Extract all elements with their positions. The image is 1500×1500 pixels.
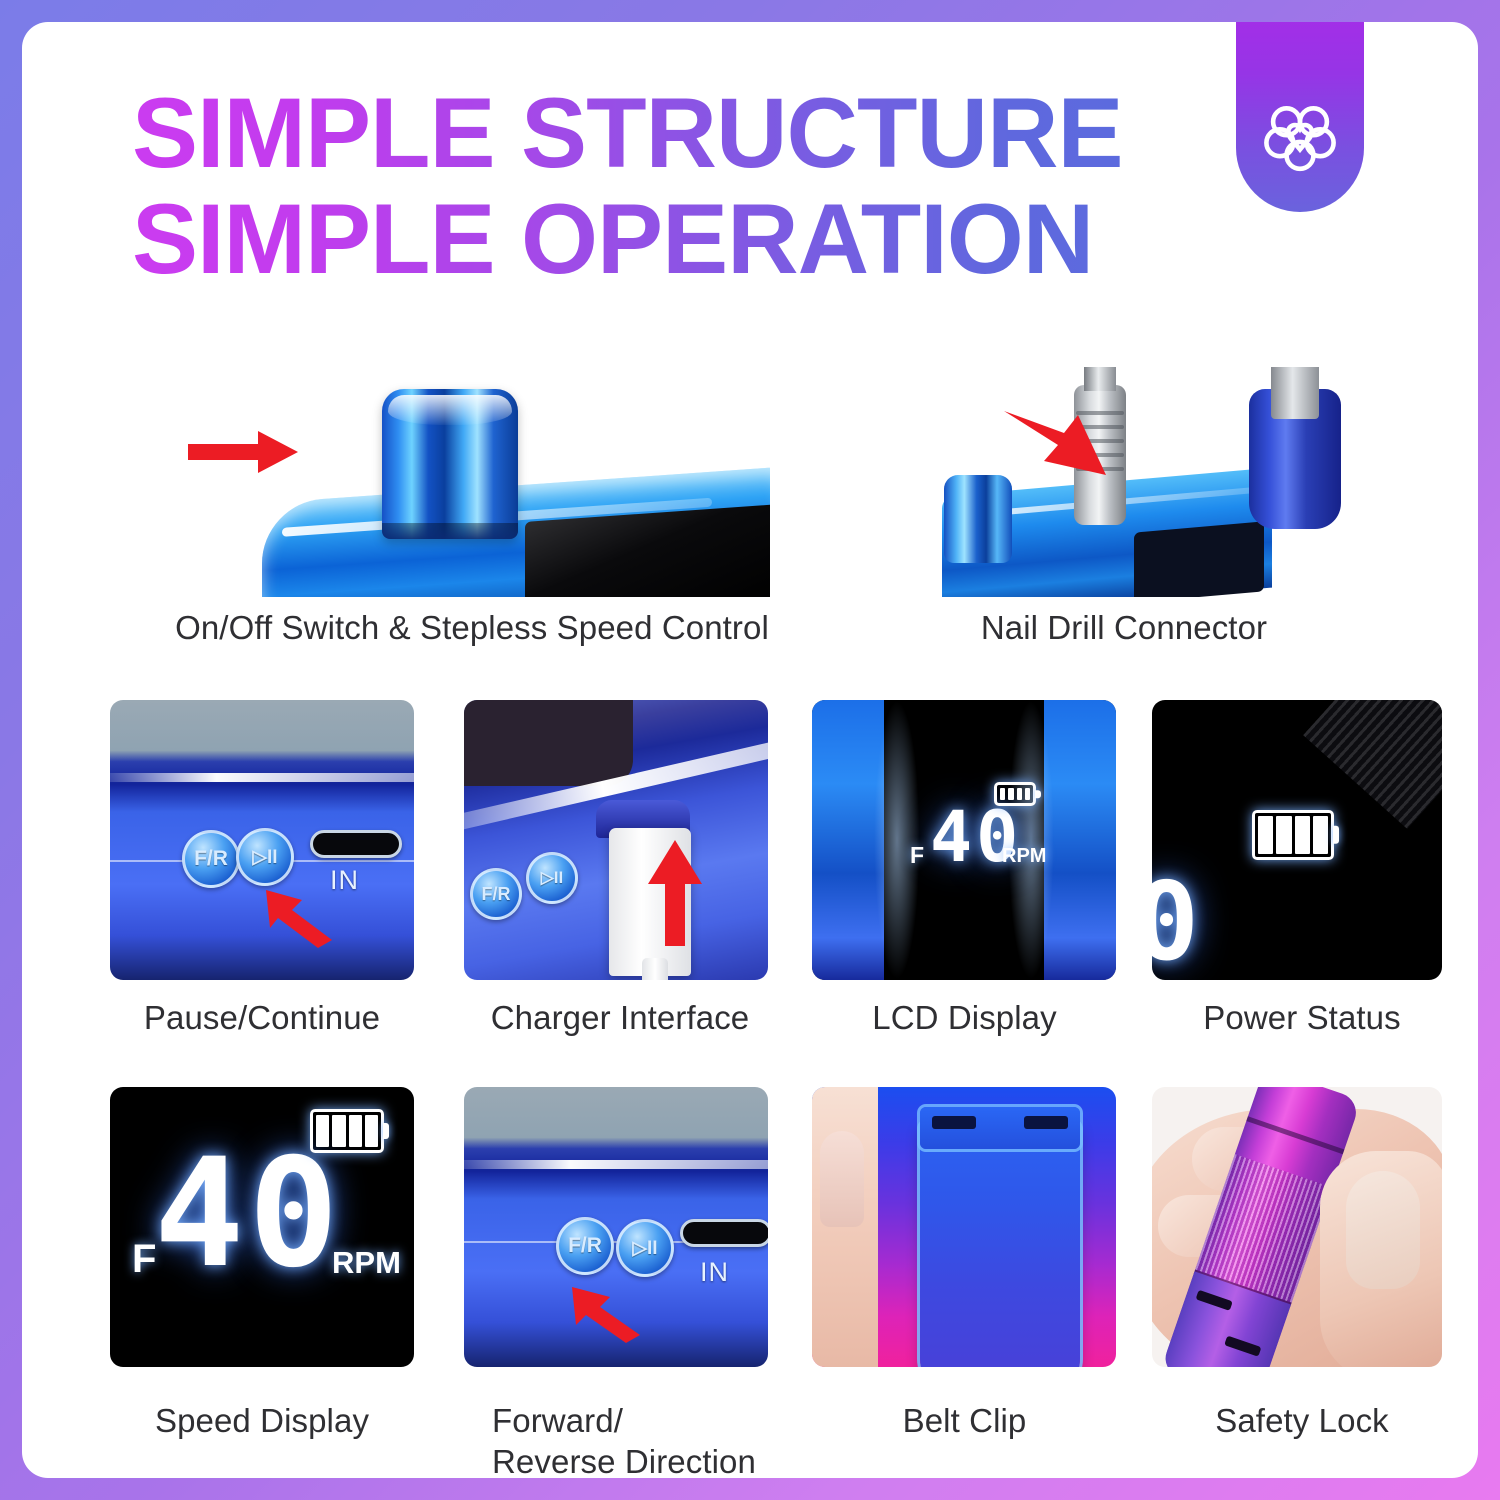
play-pause-button[interactable]: ▷II (526, 852, 578, 904)
photo-lcd-display: 40 F RPM (812, 700, 1116, 980)
play-pause-button[interactable]: ▷II (616, 1219, 674, 1277)
photo-nail-drill-connector (884, 367, 1364, 597)
caption-lcd-display: LCD Display (792, 997, 1137, 1038)
caption-forward-reverse-direction: Forward/ Reverse Direction (440, 1400, 810, 1478)
up-left-arrow-icon (568, 1285, 644, 1345)
down-right-arrow-icon (1002, 405, 1112, 479)
caption-belt-clip: Belt Clip (792, 1400, 1137, 1441)
charger-cord (642, 958, 668, 980)
usb-c-port[interactable] (680, 1219, 768, 1247)
handpiece (1249, 389, 1341, 529)
header: SIMPLE STRUCTURE SIMPLE OPERATION (22, 22, 1478, 342)
direction-indicator: F (132, 1237, 156, 1282)
caption-pause-continue: Pause/Continue (82, 997, 442, 1038)
thumbnail (1346, 1171, 1420, 1289)
speed-value: 40 (154, 1139, 343, 1289)
title-line-1: SIMPLE STRUCTURE (132, 80, 1202, 186)
port-label: IN (700, 1257, 729, 1288)
flower-heart-logo-icon (1258, 94, 1342, 178)
photo-power-status: 0 (1152, 700, 1442, 980)
speed-knob (944, 475, 1012, 563)
caption-power-status: Power Status (1132, 997, 1472, 1038)
photo-charger-interface: F/R ▷II (464, 700, 768, 980)
photo-belt-clip (812, 1087, 1116, 1367)
photo-pause-continue: F/R ▷II IN (110, 700, 414, 980)
right-arrow-icon (188, 429, 298, 475)
photo-speed-display: 40 F RPM (110, 1087, 414, 1367)
up-left-arrow-icon (262, 888, 336, 950)
photo-safety-lock (1152, 1087, 1442, 1367)
infographic-page: SIMPLE STRUCTURE SIMPLE OPERATION (22, 22, 1478, 1478)
plug-tip (1084, 367, 1116, 391)
device-screen (464, 700, 633, 786)
rpm-unit-label: RPM (332, 1245, 401, 1281)
usb-c-port[interactable] (310, 830, 402, 858)
rpm-unit-label: RPM (1002, 845, 1046, 868)
forward-reverse-button[interactable]: F/R (470, 868, 522, 920)
direction-indicator: F (910, 842, 924, 869)
belt-clip-head (920, 1107, 1080, 1149)
forward-reverse-button[interactable]: F/R (556, 1217, 614, 1275)
hand (812, 1087, 878, 1367)
caption-nail-drill-connector: Nail Drill Connector (884, 607, 1364, 648)
brand-logo-tab (1236, 22, 1364, 212)
device-edge-right (1044, 700, 1116, 980)
battery-full-icon (1252, 810, 1334, 860)
caption-charger-interface: Charger Interface (440, 997, 800, 1038)
photo-forward-reverse-direction: F/R ▷II IN (464, 1087, 768, 1367)
outer-gradient-frame: SIMPLE STRUCTURE SIMPLE OPERATION (0, 0, 1500, 1500)
forward-reverse-button[interactable]: F/R (182, 830, 240, 888)
photo-on-off-switch (170, 367, 770, 597)
battery-full-icon (994, 782, 1036, 806)
device-screen (1134, 521, 1264, 597)
speed-digit-partial: 0 (1152, 860, 1203, 980)
handpiece-tip (1271, 367, 1319, 419)
up-arrow-icon (646, 840, 704, 948)
play-pause-button[interactable]: ▷II (236, 828, 294, 886)
battery-full-icon (310, 1109, 384, 1153)
title-line-2: SIMPLE OPERATION (132, 186, 1202, 292)
page-title: SIMPLE STRUCTURE SIMPLE OPERATION (132, 80, 1202, 292)
caption-on-off-switch: On/Off Switch & Stepless Speed Control (82, 607, 862, 648)
fingernail (820, 1131, 864, 1227)
belt-clip-plate (920, 1121, 1080, 1367)
speed-knob (382, 389, 518, 539)
caption-speed-display: Speed Display (82, 1400, 442, 1441)
caption-safety-lock: Safety Lock (1132, 1400, 1472, 1441)
